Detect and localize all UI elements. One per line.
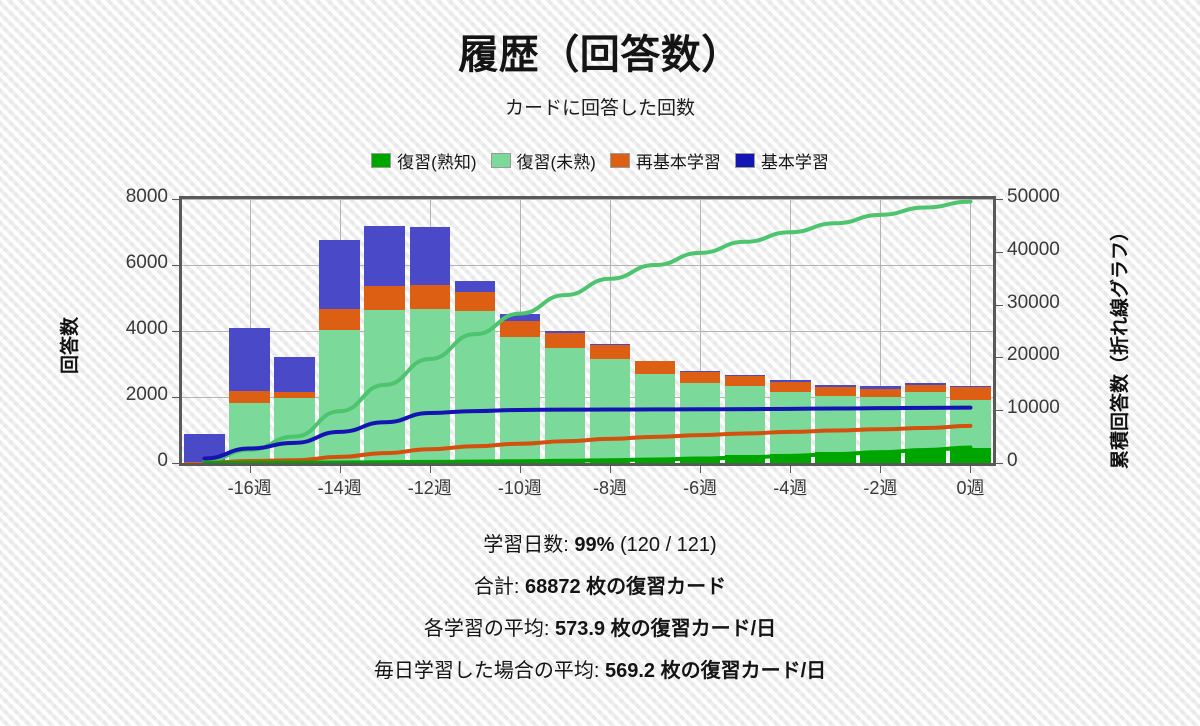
bar-segment: [455, 311, 496, 461]
legend-swatch-icon: [371, 153, 391, 168]
bar-stack[interactable]: [184, 434, 225, 463]
bar-segment: [500, 321, 541, 337]
bar-stack[interactable]: [545, 331, 586, 463]
y-tick-mark: [172, 265, 179, 266]
bar-segment: [680, 457, 721, 463]
bar-segment: [319, 462, 360, 463]
legend-swatch-icon: [610, 153, 630, 168]
y-tick-label: 2000: [126, 384, 168, 406]
page-title: 履歴（回答数）: [0, 22, 1200, 80]
y2-tick-label: 20000: [1007, 344, 1060, 366]
bar-segment: [184, 434, 225, 462]
x-tick-mark: [610, 466, 611, 473]
bar-stack[interactable]: [500, 314, 541, 463]
gridline: [182, 265, 993, 266]
y-tick-mark: [172, 331, 179, 332]
x-tick-label: -8週: [593, 474, 627, 500]
y2-axis-title: 累積回答数（折れ線グラフ）: [1105, 222, 1132, 469]
y2-tick-label: 30000: [1007, 292, 1060, 314]
bar-segment: [455, 461, 496, 463]
y2-tick-label: 0: [1007, 450, 1018, 472]
gridline: [182, 331, 993, 332]
stat-value: 68872 枚の復習カード: [525, 576, 726, 598]
y2-tick-mark: [996, 357, 1003, 358]
bar-stack[interactable]: [860, 386, 901, 463]
y-tick-mark: [172, 199, 179, 200]
bar-segment: [410, 309, 451, 461]
bar-segment: [410, 227, 451, 285]
stats-block: 学習日数: 99% (120 / 121)合計: 68872 枚の復習カード各学…: [0, 528, 1200, 696]
bar-stack[interactable]: [455, 281, 496, 463]
legend-label: 復習(熟知): [397, 148, 476, 173]
y2-tick-mark: [996, 305, 1003, 306]
y-tick-label: 8000: [126, 186, 168, 208]
bar-segment: [725, 455, 766, 463]
x-tick-label: -4週: [773, 474, 807, 500]
bar-segment: [229, 462, 270, 463]
y-axis-title: 回答数: [55, 317, 82, 374]
bar-segment: [770, 382, 811, 392]
bar-segment: [635, 361, 676, 374]
stat-value: 569.2 枚の復習カード/日: [605, 660, 826, 682]
y2-tick-mark: [996, 252, 1003, 253]
bar-segment: [725, 386, 766, 455]
bar-segment: [635, 458, 676, 463]
legend-swatch-icon: [491, 153, 511, 168]
bar-stack[interactable]: [950, 386, 991, 463]
bar-segment: [229, 328, 270, 391]
stat-value: 99%: [574, 534, 614, 556]
bar-segment: [184, 462, 225, 463]
bar-segment: [815, 396, 856, 452]
x-tick-label: 0週: [956, 474, 984, 500]
y2-tick-label: 40000: [1007, 239, 1060, 261]
bar-segment: [905, 449, 946, 463]
x-tick-mark: [880, 466, 881, 473]
bar-segment: [319, 309, 360, 329]
x-tick-mark: [970, 466, 971, 473]
y2-tick-mark: [996, 463, 1003, 464]
bar-segment: [905, 385, 946, 393]
bar-segment: [860, 397, 901, 451]
legend-label: 基本学習: [761, 148, 829, 173]
bar-segment: [410, 461, 451, 463]
bar-stack[interactable]: [229, 328, 270, 463]
bar-segment: [815, 387, 856, 396]
page-subtitle: カードに回答した回数: [0, 93, 1200, 120]
bar-segment: [770, 454, 811, 463]
y-tick-label: 6000: [126, 252, 168, 274]
bar-segment: [950, 387, 991, 400]
legend-label: 再基本学習: [636, 148, 721, 173]
bar-stack[interactable]: [364, 226, 405, 463]
bar-stack[interactable]: [590, 344, 631, 463]
chart-legend: 復習(熟知)復習(未熟)再基本学習基本学習: [0, 148, 1200, 173]
bar-segment: [590, 359, 631, 460]
x-tick-label: -6週: [683, 474, 717, 500]
bar-segment: [590, 345, 631, 360]
bar-segment: [860, 451, 901, 463]
bar-segment: [319, 240, 360, 309]
x-tick-label: -14週: [318, 474, 362, 500]
bar-segment: [500, 337, 541, 461]
bar-segment: [500, 461, 541, 463]
bar-segment: [500, 314, 541, 321]
stat-label: 各学習の平均:: [424, 618, 555, 640]
legend-item[interactable]: 基本学習: [735, 148, 829, 173]
stat-row: 毎日学習した場合の平均: 569.2 枚の復習カード/日: [0, 654, 1200, 683]
bar-segment: [274, 398, 315, 462]
bar-segment: [229, 403, 270, 462]
stat-label: 合計:: [474, 576, 525, 598]
y2-tick-mark: [996, 410, 1003, 411]
stat-suffix: (120 / 121): [614, 534, 716, 556]
legend-item[interactable]: 復習(熟知): [371, 148, 476, 173]
stat-row: 学習日数: 99% (120 / 121): [0, 528, 1200, 557]
bar-segment: [364, 226, 405, 286]
bar-stack[interactable]: [410, 227, 451, 463]
y-tick-label: 4000: [126, 318, 168, 340]
stat-row: 各学習の平均: 573.9 枚の復習カード/日: [0, 612, 1200, 641]
bar-stack[interactable]: [319, 240, 360, 463]
bar-stack[interactable]: [680, 371, 721, 463]
bar-segment: [950, 448, 991, 464]
bar-segment: [905, 392, 946, 449]
plot-area: [179, 196, 996, 466]
bar-segment: [590, 460, 631, 463]
x-tick-label: -10週: [498, 474, 542, 500]
x-tick-mark: [340, 466, 341, 473]
stat-label: 学習日数:: [483, 534, 574, 556]
bar-stack[interactable]: [815, 385, 856, 463]
x-tick-mark: [430, 466, 431, 473]
x-tick-mark: [250, 466, 251, 473]
x-tick-label: -12週: [408, 474, 452, 500]
legend-swatch-icon: [735, 153, 755, 168]
y2-tick-label: 10000: [1007, 397, 1060, 419]
bar-stack[interactable]: [905, 383, 946, 463]
bar-stack[interactable]: [770, 380, 811, 463]
y-tick-mark: [172, 397, 179, 398]
anki-history-answer-count-chart: 履歴（回答数） カードに回答した回数 復習(熟知)復習(未熟)再基本学習基本学習…: [0, 0, 1200, 726]
legend-item[interactable]: 復習(未熟): [491, 148, 596, 173]
gridline: [182, 199, 993, 200]
x-tick-label: -16週: [228, 474, 272, 500]
x-tick-mark: [520, 466, 521, 473]
bar-segment: [455, 281, 496, 293]
bar-segment: [410, 285, 451, 309]
bar-stack[interactable]: [274, 357, 315, 463]
y2-tick-label: 50000: [1007, 186, 1060, 208]
bar-stack[interactable]: [725, 375, 766, 463]
plot-inner: [182, 199, 993, 463]
bar-segment: [680, 372, 721, 383]
bar-segment: [725, 376, 766, 386]
bar-segment: [815, 452, 856, 463]
x-tick-mark: [700, 466, 701, 473]
bar-segment: [364, 286, 405, 310]
legend-label: 復習(未熟): [517, 148, 596, 173]
y-tick-mark: [172, 463, 179, 464]
bar-segment: [364, 461, 405, 463]
bar-segment: [635, 374, 676, 458]
bar-segment: [680, 383, 721, 457]
legend-item[interactable]: 再基本学習: [610, 148, 721, 173]
y-tick-label: 0: [157, 450, 168, 472]
bar-segment: [545, 460, 586, 463]
bar-segment: [770, 392, 811, 454]
bar-segment: [274, 462, 315, 463]
stat-row: 合計: 68872 枚の復習カード: [0, 570, 1200, 599]
bar-segment: [455, 292, 496, 310]
y2-tick-mark: [996, 199, 1003, 200]
stat-value: 573.9 枚の復習カード/日: [555, 618, 776, 640]
bar-segment: [860, 389, 901, 397]
x-tick-mark: [790, 466, 791, 473]
bar-segment: [229, 391, 270, 403]
bar-segment: [545, 333, 586, 349]
bar-stack[interactable]: [635, 361, 676, 463]
bar-segment: [274, 357, 315, 392]
bar-segment: [364, 310, 405, 461]
bar-segment: [319, 330, 360, 462]
stat-label: 毎日学習した場合の平均:: [374, 660, 605, 682]
bar-segment: [545, 348, 586, 460]
x-tick-label: -2週: [863, 474, 897, 500]
bar-segment: [950, 400, 991, 447]
